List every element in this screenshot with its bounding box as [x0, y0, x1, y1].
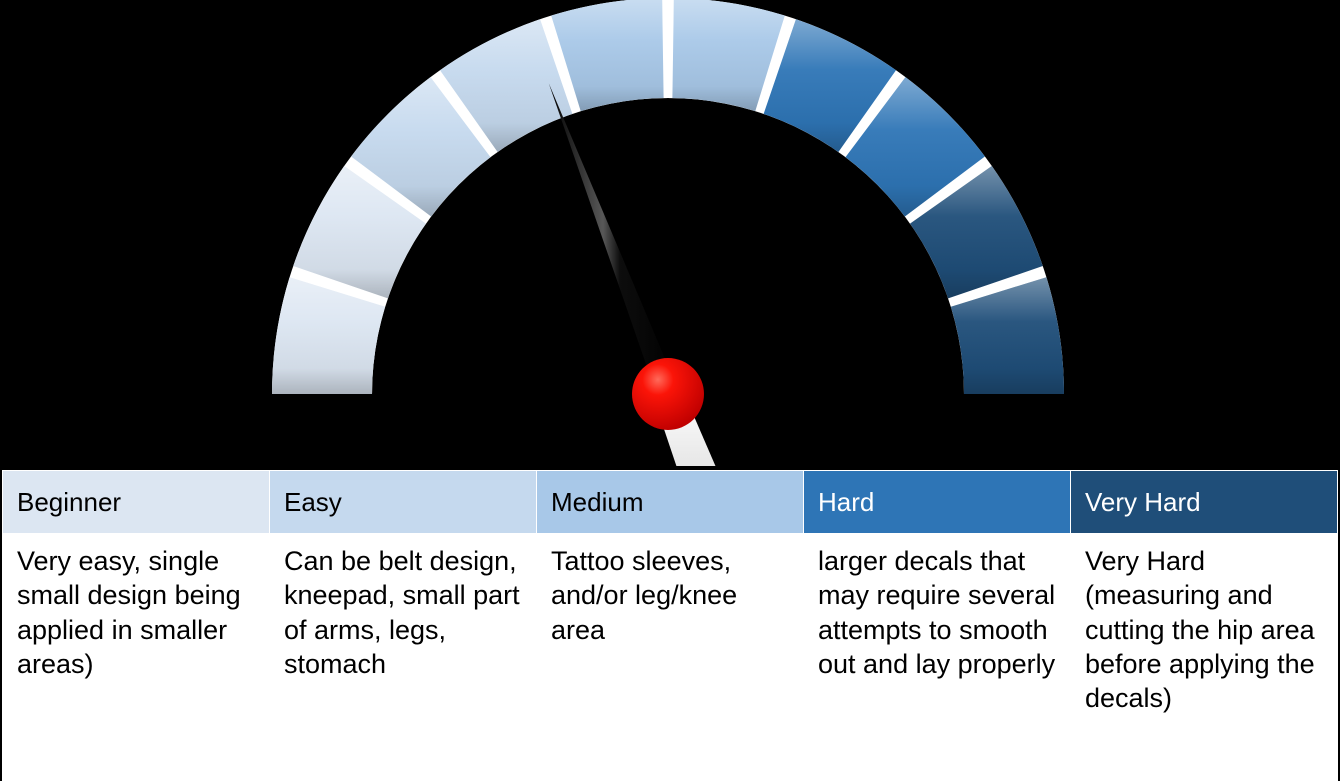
table-row: Very easy, single small design being app… — [3, 534, 1338, 781]
needle-hub — [632, 358, 704, 430]
needle-pointer — [549, 83, 679, 398]
column-header-easy[interactable]: Easy — [270, 471, 537, 534]
column-header-very-hard[interactable]: Very Hard — [1071, 471, 1338, 534]
cell-text: Very Hard (measuring and cutting the hip… — [1085, 544, 1325, 715]
gauge-area — [0, 0, 1340, 470]
difficulty-gauge — [0, 0, 1340, 470]
gauge-ring — [272, 0, 1064, 394]
legend-table-container: Beginner Easy Medium Hard Very Hard Very… — [0, 466, 1340, 767]
cell-text: Tattoo sleeves, and/or leg/knee area — [551, 544, 791, 647]
cell-very-hard-description[interactable]: Very Hard (measuring and cutting the hip… — [1071, 534, 1338, 781]
gauge-needle-group — [549, 83, 730, 470]
table-header-row: Beginner Easy Medium Hard Very Hard — [3, 471, 1338, 534]
cell-text: larger decals that may require several a… — [818, 544, 1058, 681]
difficulty-legend-table: Beginner Easy Medium Hard Very Hard Very… — [2, 470, 1338, 781]
cell-hard-description[interactable]: larger decals that may require several a… — [804, 534, 1071, 781]
cell-easy-description[interactable]: Can be belt design, kneepad, small part … — [270, 534, 537, 781]
cell-beginner-description[interactable]: Very easy, single small design being app… — [3, 534, 270, 781]
slide-canvas: Beginner Easy Medium Hard Very Hard Very… — [0, 0, 1340, 767]
cell-text: Very easy, single small design being app… — [17, 544, 257, 681]
cell-medium-description[interactable]: Tattoo sleeves, and/or leg/knee area — [537, 534, 804, 781]
cell-text: Can be belt design, kneepad, small part … — [284, 544, 524, 681]
column-header-beginner[interactable]: Beginner — [3, 471, 270, 534]
column-header-hard[interactable]: Hard — [804, 471, 1071, 534]
column-header-medium[interactable]: Medium — [537, 471, 804, 534]
